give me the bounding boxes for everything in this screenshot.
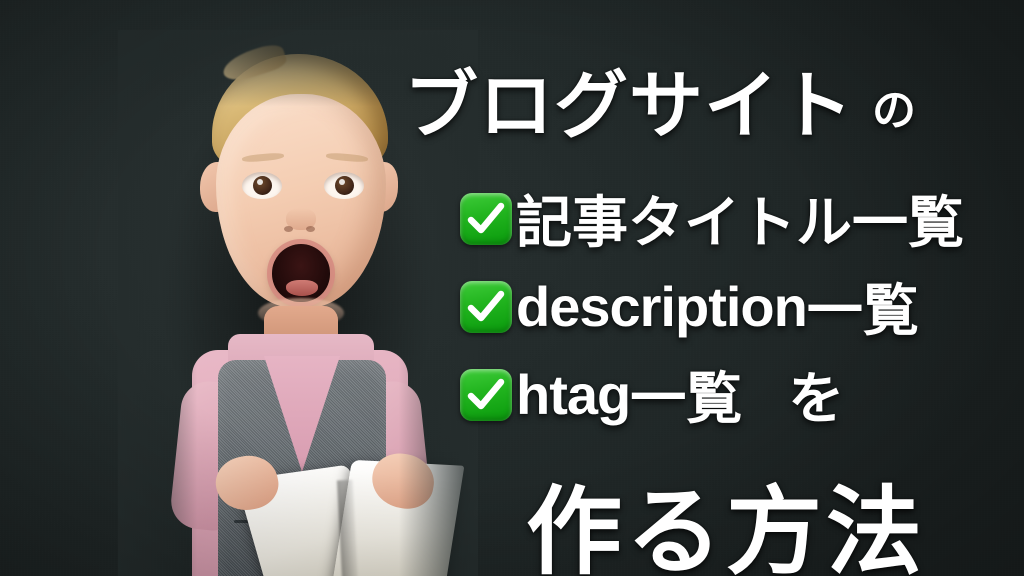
headline-bullet-1: 記事タイトル一覧 bbox=[460, 178, 964, 259]
white-check-mark-icon bbox=[460, 369, 512, 421]
bullet-1-label: 記事タイトル一覧 bbox=[516, 178, 964, 259]
white-check-mark-icon bbox=[460, 281, 512, 333]
bullet-2-label: description bbox=[516, 274, 807, 339]
particle-wo: を bbox=[788, 354, 844, 435]
headline-bullet-3: htag 一覧 を bbox=[460, 354, 844, 435]
headline-main-subject: ブログサイト bbox=[404, 46, 854, 153]
headline-text-block: ブログサイト の 記事タイトル一覧 description 一覧 bbox=[398, 26, 1024, 576]
bullet-2-suffix: 一覧 bbox=[807, 266, 919, 347]
bullet-3-suffix: 一覧 bbox=[630, 354, 742, 435]
thumbnail-canvas: ブログサイト の 記事タイトル一覧 description 一覧 bbox=[0, 0, 1024, 576]
bullet-3-label: htag bbox=[516, 362, 630, 427]
particle-no: の bbox=[872, 74, 917, 138]
headline-line-bottom: 作る方法 bbox=[526, 454, 926, 576]
headline-line-1: ブログサイト の bbox=[404, 46, 917, 153]
headline-bullet-2: description 一覧 bbox=[460, 266, 919, 347]
white-check-mark-icon bbox=[460, 193, 512, 245]
